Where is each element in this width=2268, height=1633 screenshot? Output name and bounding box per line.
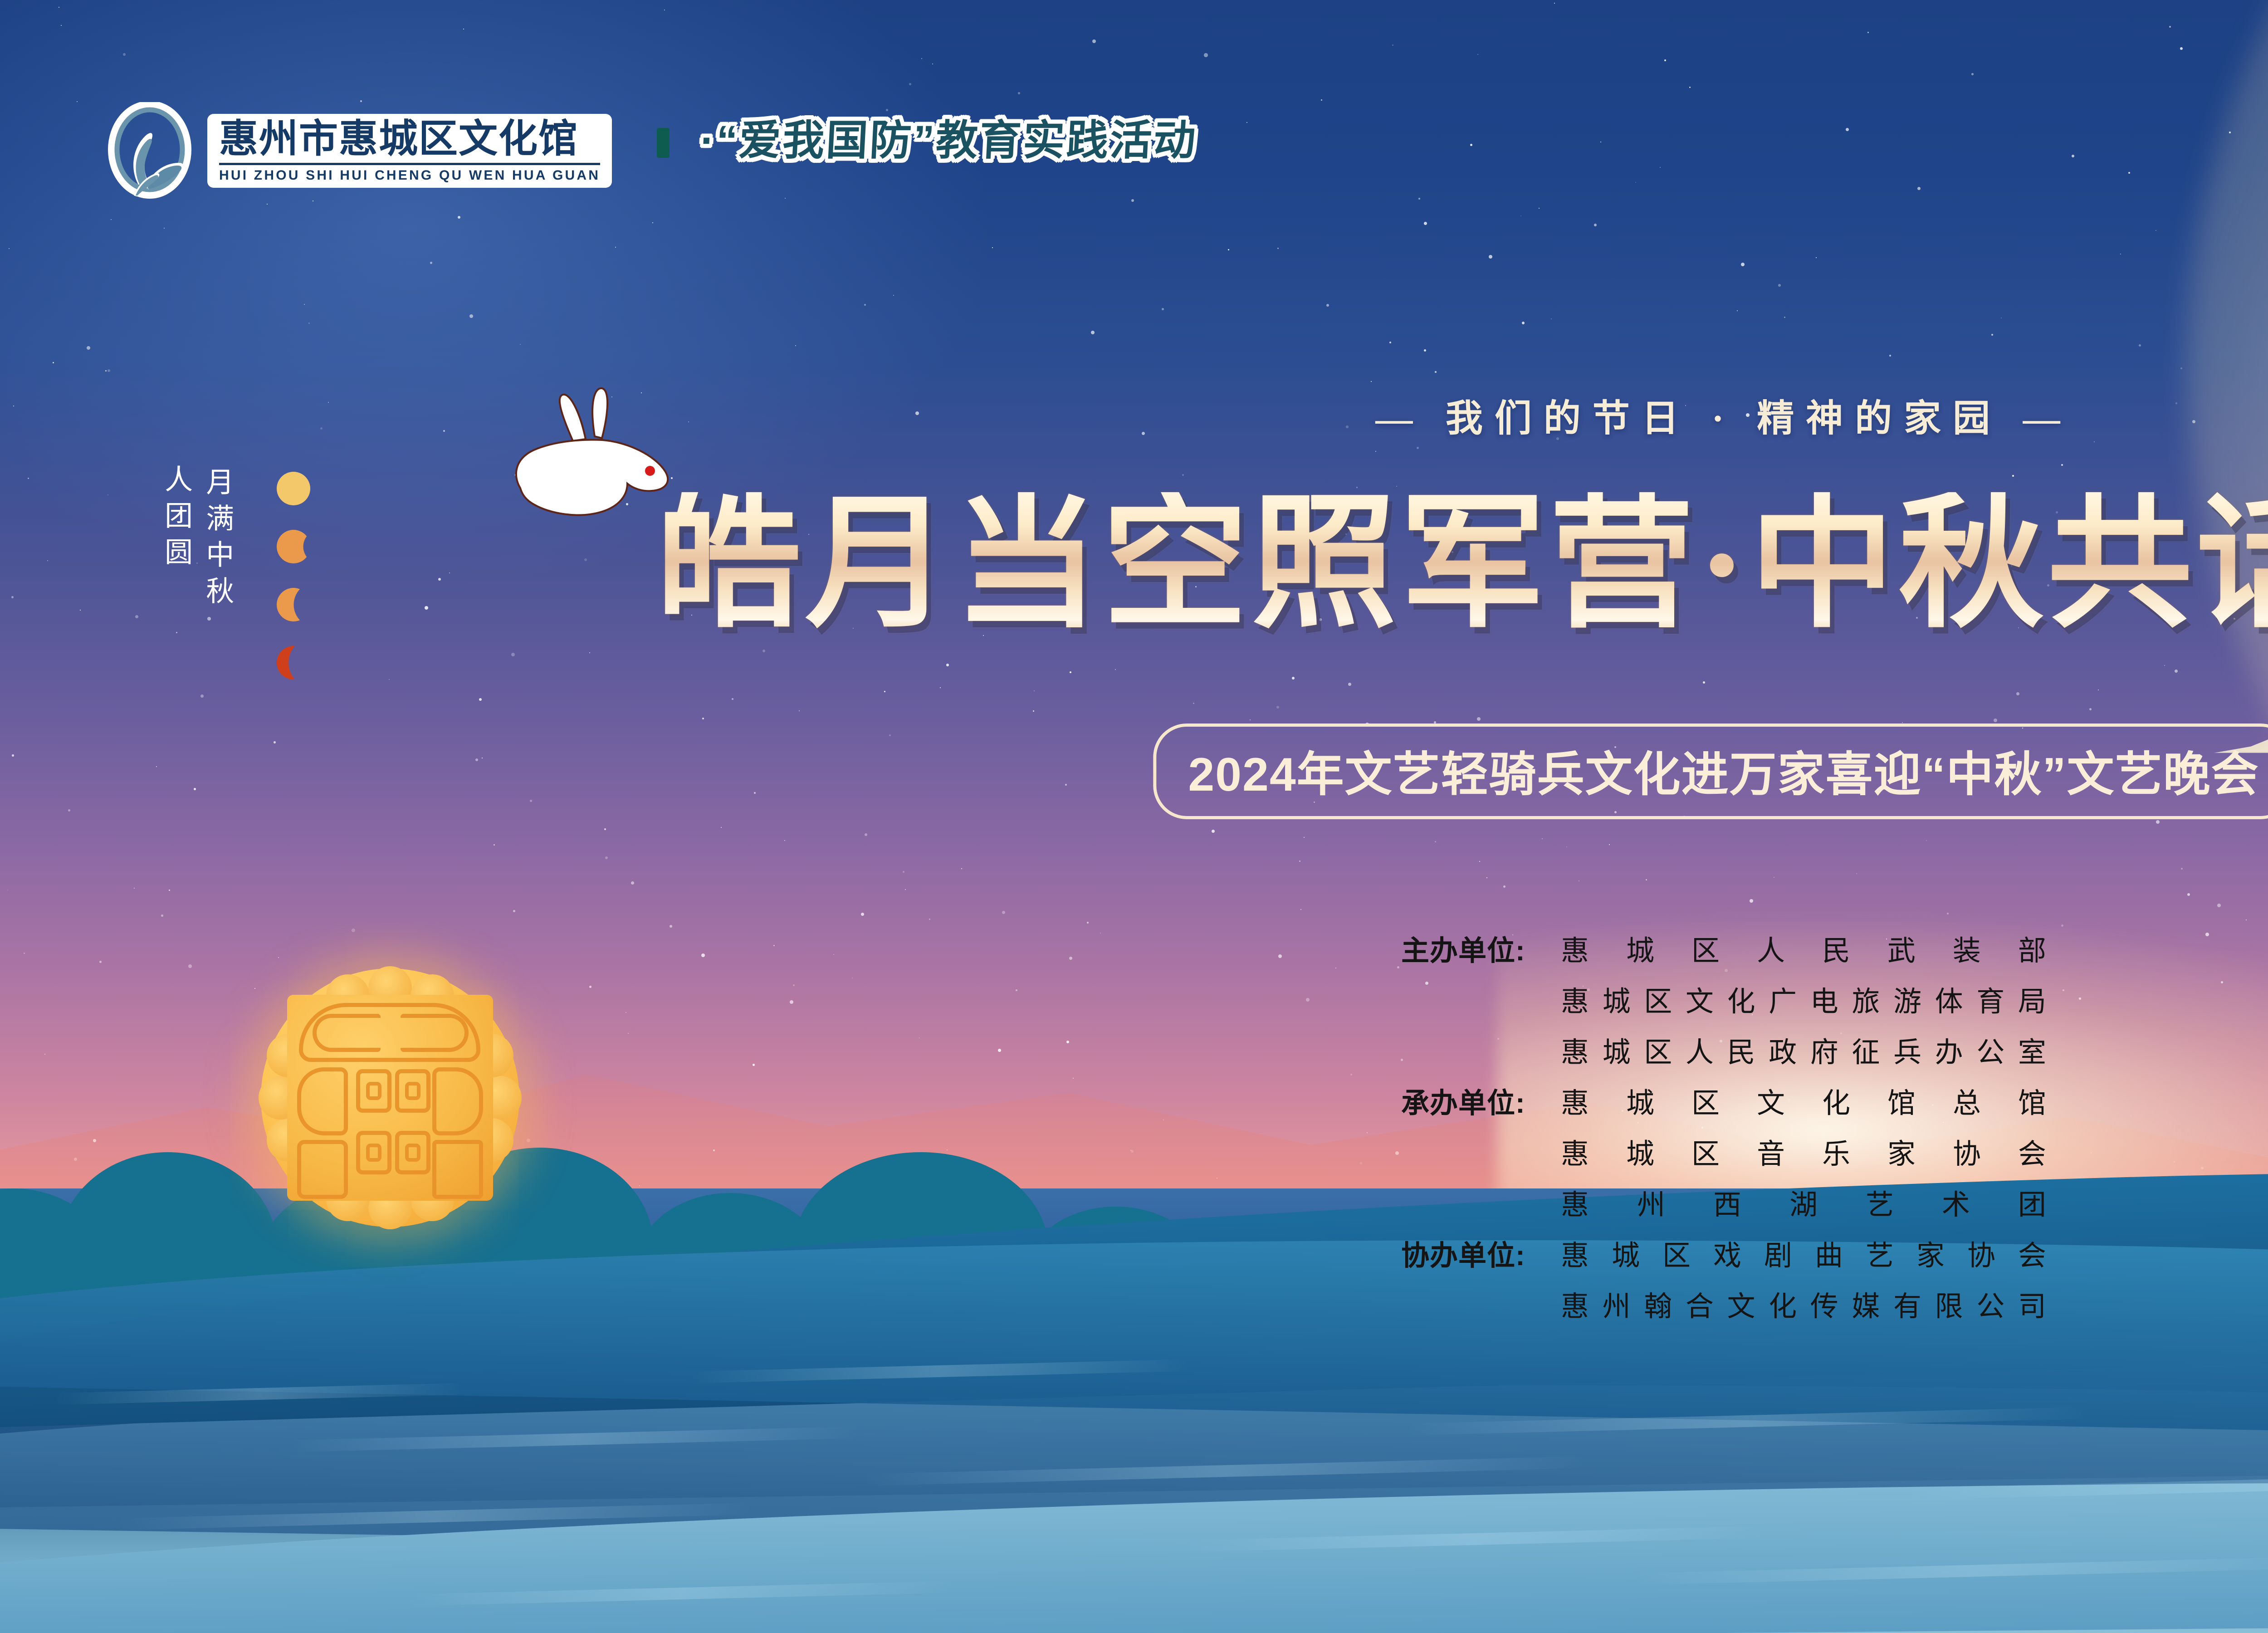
event-subtitle: 2024年文艺轻骑兵文化进万家喜迎“中秋”文艺晚会 (1188, 736, 2259, 804)
crescent-moon-icon (277, 588, 310, 621)
subtitle-frame: 2024年文艺轻骑兵文化进万家喜迎“中秋”文艺晚会 (1153, 724, 2268, 819)
organizer-row: 主办单位:惠州翰合文化传媒有限公司 (1401, 1283, 2046, 1324)
festival-tagline: — 我们的节日 · 精神的家园 — (1375, 388, 2072, 442)
swan-leaf-emblem-icon (107, 102, 197, 200)
organizer-name: 惠州翰合文化传媒有限公司 (1561, 1283, 2046, 1324)
organizer-row: 主办单位:惠城区人民政府征兵办公室 (1401, 1029, 2046, 1070)
logo-text-block: 惠州市惠城区文化馆 HUI ZHOU SHI HUI CHENG QU WEN … (207, 114, 612, 188)
organizer-row: 主办单位:惠州西湖艺术团 (1401, 1182, 2046, 1222)
jade-rabbit-icon (506, 381, 678, 535)
organizer-name: 惠城区戏剧曲艺家协会 (1561, 1232, 2046, 1273)
logo-chinese-name: 惠州市惠城区文化馆 (219, 119, 600, 158)
poster-canvas: 惠州市惠城区文化馆 HUI ZHOU SHI HUI CHENG QU WEN … (0, 0, 2268, 1633)
organizer-row: 协办单位:惠城区戏剧曲艺家协会 (1401, 1232, 2046, 1273)
organizer-list: 主办单位:惠城区人民武装部主办单位:惠城区文化广电旅游体育局主办单位:惠城区人民… (1401, 928, 2046, 1324)
organizer-row: 主办单位:惠城区音乐家协会 (1401, 1131, 2046, 1172)
campaign-slogan: ·“爱我国防”教育实践活动 (699, 107, 1199, 167)
thin-crescent-moon-icon (277, 646, 310, 680)
organizer-row: 承办单位:惠城区文化馆总馆 (1401, 1080, 2046, 1121)
logo-separator-dot (657, 128, 670, 158)
moon-phase-group (277, 472, 310, 680)
vertical-greeting: 人团圆 月满中秋 (161, 467, 380, 612)
page-title: 皓月当空照军营·中秋共话鱼水情 (656, 492, 2268, 637)
gibbous-moon-icon (277, 530, 310, 563)
logo-english-name: HUI ZHOU SHI HUI CHENG QU WEN HUA GUAN (219, 168, 600, 183)
full-moon-icon (277, 472, 310, 505)
organizer-name: 惠城区文化广电旅游体育局 (1561, 978, 2046, 1019)
mooncake-icon (261, 968, 519, 1227)
organizer-name: 惠城区人民武装部 (1561, 928, 2046, 968)
organization-logo[interactable]: 惠州市惠城区文化馆 HUI ZHOU SHI HUI CHENG QU WEN … (107, 102, 612, 200)
vertical-greeting-right: 月满中秋 (202, 467, 232, 612)
organizer-row: 主办单位:惠城区文化广电旅游体育局 (1401, 978, 2046, 1019)
logo-divider (219, 163, 600, 165)
organizer-label: 协办单位: (1401, 1232, 1561, 1273)
organizer-label: 主办单位: (1401, 928, 1561, 968)
vertical-greeting-left: 人团圆 (161, 464, 191, 573)
organizer-name: 惠州西湖艺术团 (1561, 1182, 2046, 1222)
organizer-name: 惠城区文化馆总馆 (1561, 1080, 2046, 1121)
organizer-name: 惠城区人民政府征兵办公室 (1561, 1029, 2046, 1070)
organizer-row: 主办单位:惠城区人民武装部 (1401, 928, 2046, 968)
organizer-label: 承办单位: (1401, 1080, 1561, 1121)
organizer-name: 惠城区音乐家协会 (1561, 1131, 2046, 1172)
